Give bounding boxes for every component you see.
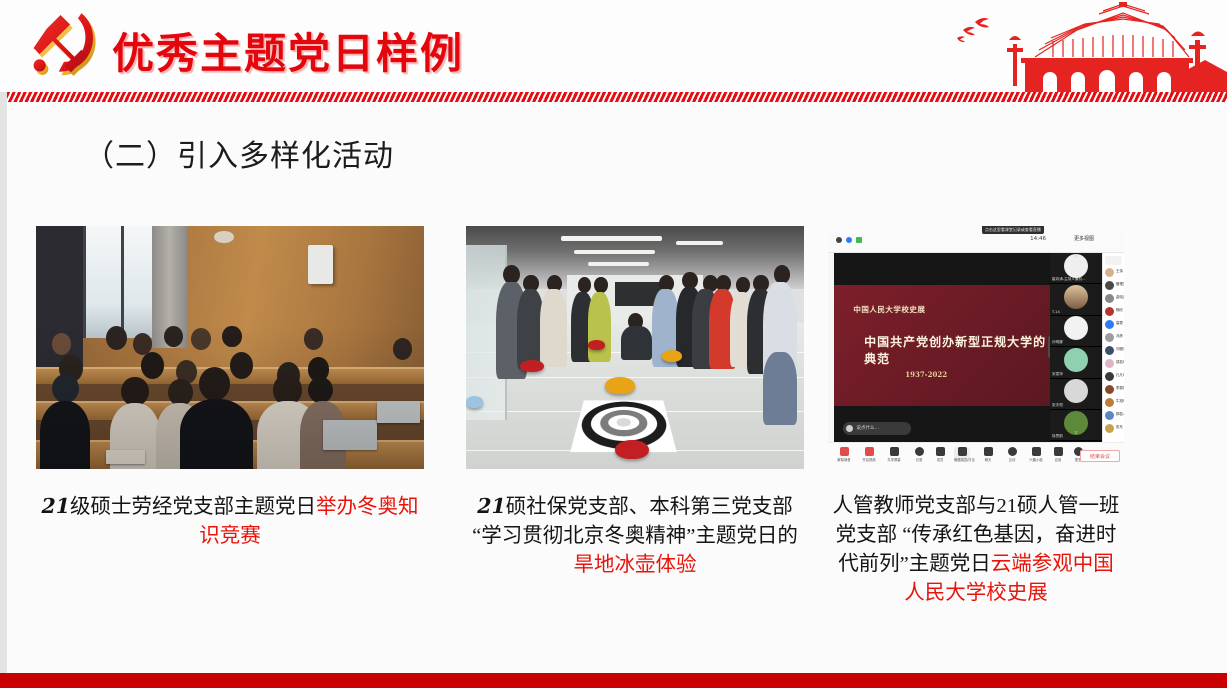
video-tile[interactable]: 徐思韵 (1050, 410, 1102, 441)
toolbar-video-button[interactable]: 开启视频 (861, 447, 877, 462)
caption-3: 人管教师党支部与21硕人管一班党支部 “传承红色基因，奋进时代前列”主题党日云端… (828, 492, 1124, 608)
avatar (1105, 320, 1114, 329)
content-column-1: 21级硕士劳经党支部主题党日举办冬奥知识竞赛 (36, 226, 424, 551)
video-tile-name: 孙明娜 (1052, 340, 1063, 345)
participant-row[interactable]: 王伟 (1105, 267, 1122, 279)
participant-name: 牛旭明 (1116, 399, 1124, 404)
meeting-info-icon[interactable] (836, 237, 842, 243)
participant-search-input[interactable] (1105, 256, 1122, 265)
toolbar-manage-members-button[interactable]: 管理成员/讨论 (954, 447, 970, 462)
interact-icon (1008, 447, 1017, 456)
tiananmen-gate-illustration (927, 0, 1227, 92)
participant-name: 管理员·崔向涛 (1116, 282, 1124, 287)
video-tile[interactable]: T-14 (1050, 284, 1102, 315)
participant-row[interactable]: 刘雅站 (1105, 345, 1122, 357)
avatar (1105, 268, 1114, 277)
avatar (1105, 424, 1114, 433)
end-meeting-button[interactable]: 结束会议 (1080, 450, 1120, 462)
participant-row[interactable]: 孔凡瑜 (1105, 371, 1122, 383)
slide-year: 1937-2022 (905, 370, 947, 379)
meeting-toolbar[interactable]: 解除静音 开启视频 共享屏幕 记录 成员 管理成员/讨论 聊天 互动 兴趣小组 … (828, 442, 1124, 469)
meeting-time: 14:46 (1030, 236, 1046, 242)
participant-name: 成若均 (1116, 360, 1124, 365)
microphone-icon (840, 447, 849, 456)
participant-name: 杨欣 (1116, 308, 1123, 313)
avatar (1105, 294, 1114, 303)
avatar (1064, 285, 1088, 309)
participant-row[interactable]: 金晓荧 (1105, 293, 1122, 305)
participant-name: 金晓荧 (1116, 295, 1124, 300)
participant-name: 王伟 (1116, 269, 1123, 274)
avatar (1105, 385, 1114, 394)
participant-row[interactable]: 郭若心 (1105, 410, 1122, 422)
toolbar-breakout-button[interactable]: 兴趣小组 (1028, 447, 1044, 462)
toolbar-chat-button[interactable]: 聊天 (980, 447, 996, 462)
video-tile-name: 张次恒 (1052, 403, 1063, 408)
participant-row[interactable]: 管理员·崔向涛 (1105, 280, 1122, 292)
participant-name: 冯彦 (1116, 334, 1123, 339)
section-heading: （二）引入多样化活动 (84, 131, 394, 175)
slide-left-gutter (0, 0, 7, 688)
meeting-shared-screen[interactable]: 中国人民大学校史展 中国共产党创办新型正规大学的典范 1937-2022 说点什… (834, 253, 1050, 443)
slide-footer-bar-inner (7, 673, 1227, 688)
slide-title: 中国共产党创办新型正规大学的典范 (864, 333, 1050, 367)
participant-row[interactable]: 高蒙 (1105, 319, 1122, 331)
meeting-signal-icon[interactable] (856, 237, 862, 243)
meeting-tooltip: 点击这里看课堂记录或查看直播 (982, 226, 1044, 234)
slide-root: 优秀主题党日样例 (0, 0, 1227, 688)
meeting-chat-chip[interactable]: 说点什么… (843, 422, 911, 435)
scroll-up-icon[interactable]: ^ (1050, 254, 1102, 260)
chat-icon (984, 447, 993, 456)
photo-floor-curling-corridor (466, 226, 804, 469)
caption-2-highlight: 旱地冰壶体验 (574, 554, 697, 576)
participant-video-strip[interactable]: 崔向涛-主持人兼机… T-14 孙明娜 宋雯萍 (1050, 253, 1102, 443)
meeting-view-switch[interactable]: 更多视图 (1074, 235, 1094, 242)
meeting-shield-icon[interactable] (846, 237, 852, 243)
avatar (1064, 348, 1088, 372)
content-column-3: 点击这里看课堂记录或查看直播 14:46 更多视图 中国人民大学校史展 中国共产… (828, 226, 1124, 608)
participant-name: 郭若心 (1116, 412, 1124, 417)
scroll-down-icon[interactable]: v (1050, 430, 1102, 436)
video-tile[interactable]: 孙明娜 (1050, 316, 1102, 347)
participant-row[interactable]: 牛旭明 (1105, 397, 1122, 409)
meeting-topbar: 点击这里看课堂记录或查看直播 14:46 更多视图 (828, 226, 1124, 253)
avatar (1105, 281, 1114, 290)
toolbar-interact-button[interactable]: 互动 (1004, 447, 1020, 462)
manage-members-icon (958, 447, 967, 456)
members-icon (936, 447, 945, 456)
avatar (1105, 359, 1114, 368)
screen-share-icon (890, 447, 899, 456)
avatar (1105, 333, 1114, 342)
video-tile-name: 宋雯萍 (1052, 372, 1063, 377)
participant-row[interactable]: 李振阳 (1105, 384, 1122, 396)
caption-1: 21级硕士劳经党支部主题党日举办冬奥知识竞赛 (36, 492, 424, 551)
participant-name: 张东 (1116, 425, 1123, 430)
page-title: 优秀主题党日样例 (112, 20, 464, 81)
header-red-stripe (7, 92, 1227, 102)
avatar (1105, 307, 1114, 316)
participant-list-panel[interactable]: 王伟 管理员·崔向涛 金晓荧 杨欣 高蒙 冯彦 刘雅站 成若均 孔凡瑜 李振阳 … (1102, 253, 1124, 469)
video-tile-name: 崔向涛-主持人兼机… (1052, 277, 1086, 282)
video-tile[interactable]: 宋雯萍 (1050, 347, 1102, 378)
avatar (1105, 411, 1114, 420)
breakout-rooms-icon (1032, 447, 1041, 456)
caption-2: 21硕社保党支部、本科第三党支部 “学习贯彻北京冬奥精神”主题党日的旱地冰壶体验 (466, 492, 804, 580)
record-icon (915, 447, 924, 456)
avatar (1064, 379, 1088, 403)
participant-name: 李振阳 (1116, 386, 1124, 391)
content-column-2: 21硕社保党支部、本科第三党支部 “学习贯彻北京冬奥精神”主题党日的旱地冰壶体验 (466, 226, 804, 580)
participant-row[interactable]: 成若均 (1105, 358, 1122, 370)
video-tile-name: T-14 (1052, 310, 1060, 314)
caption-1-black: 级硕士劳经党支部主题党日 (70, 496, 316, 518)
shared-slide: 中国人民大学校史展 中国共产党创办新型正规大学的典范 1937-2022 (834, 285, 1050, 406)
toolbar-record-button[interactable]: 记录 (911, 447, 927, 462)
toolbar-unmute-button[interactable]: 解除静音 (836, 447, 852, 462)
cpc-hammer-sickle-emblem (18, 8, 110, 88)
photo-lecture-hall-quiz (36, 226, 424, 469)
participant-name: 高蒙 (1116, 321, 1123, 326)
chat-bubble-icon (846, 425, 853, 432)
participant-name: 孔凡瑜 (1116, 373, 1124, 378)
toolbar-members-button[interactable]: 成员 (932, 447, 948, 462)
participant-row[interactable]: 冯彦 (1105, 332, 1122, 344)
participant-row[interactable]: 张东 (1105, 423, 1122, 435)
video-tile[interactable]: 张次恒 (1050, 379, 1102, 410)
participant-row[interactable]: 杨欣 (1105, 306, 1122, 318)
toolbar-apps-button[interactable]: 应用 (1050, 447, 1066, 462)
camera-icon (865, 447, 874, 456)
avatar (1105, 346, 1114, 355)
avatar (1105, 398, 1114, 407)
slide-header: 优秀主题党日样例 (0, 0, 1227, 92)
caption-2-black: 硕社保党支部、本科第三党支部 “学习贯彻北京冬奥精神”主题党日的 (472, 496, 798, 547)
toolbar-share-button[interactable]: 共享屏幕 (886, 447, 902, 462)
avatar (1105, 372, 1114, 381)
photo-tencent-meeting-school-history: 点击这里看课堂记录或查看直播 14:46 更多视图 中国人民大学校史展 中国共产… (828, 226, 1124, 469)
slide-subtitle: 中国人民大学校史展 (853, 304, 925, 315)
apps-icon (1054, 447, 1063, 456)
chat-chip-label: 说点什么… (857, 425, 880, 431)
participant-name: 刘雅站 (1116, 347, 1124, 352)
avatar (1064, 316, 1088, 340)
